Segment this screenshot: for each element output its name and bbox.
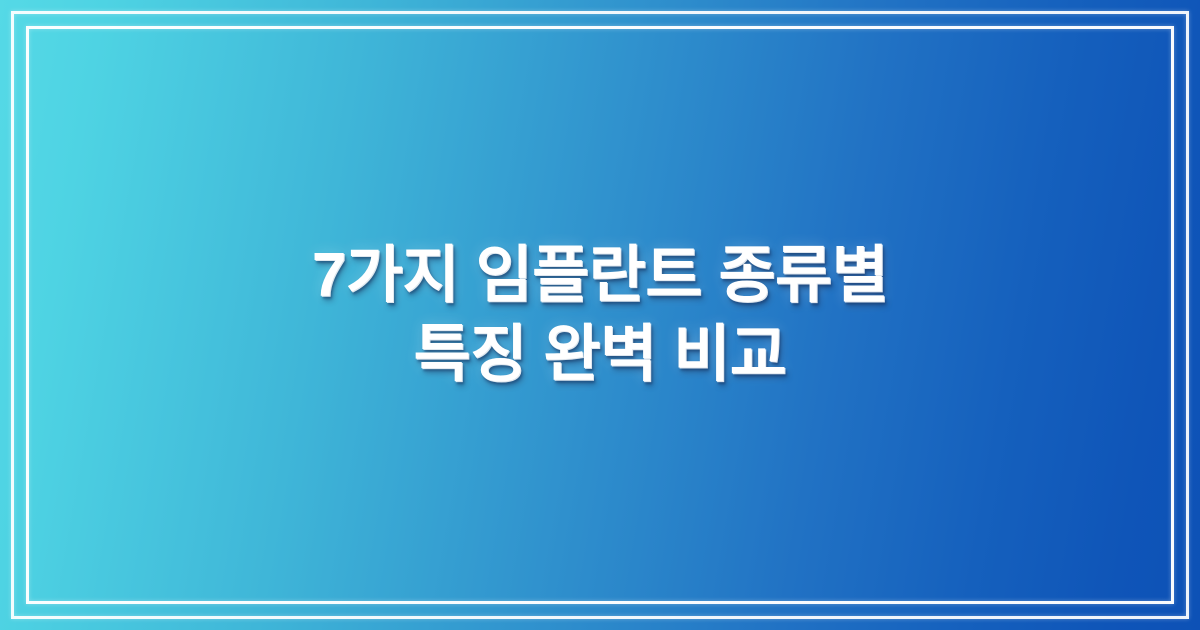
- page-title: 7가지 임플란트 종류별 특징 완벽 비교: [312, 236, 888, 395]
- headline-block: 7가지 임플란트 종류별 특징 완벽 비교: [0, 0, 1200, 630]
- thumbnail-card: 7가지 임플란트 종류별 특징 완벽 비교: [0, 0, 1200, 630]
